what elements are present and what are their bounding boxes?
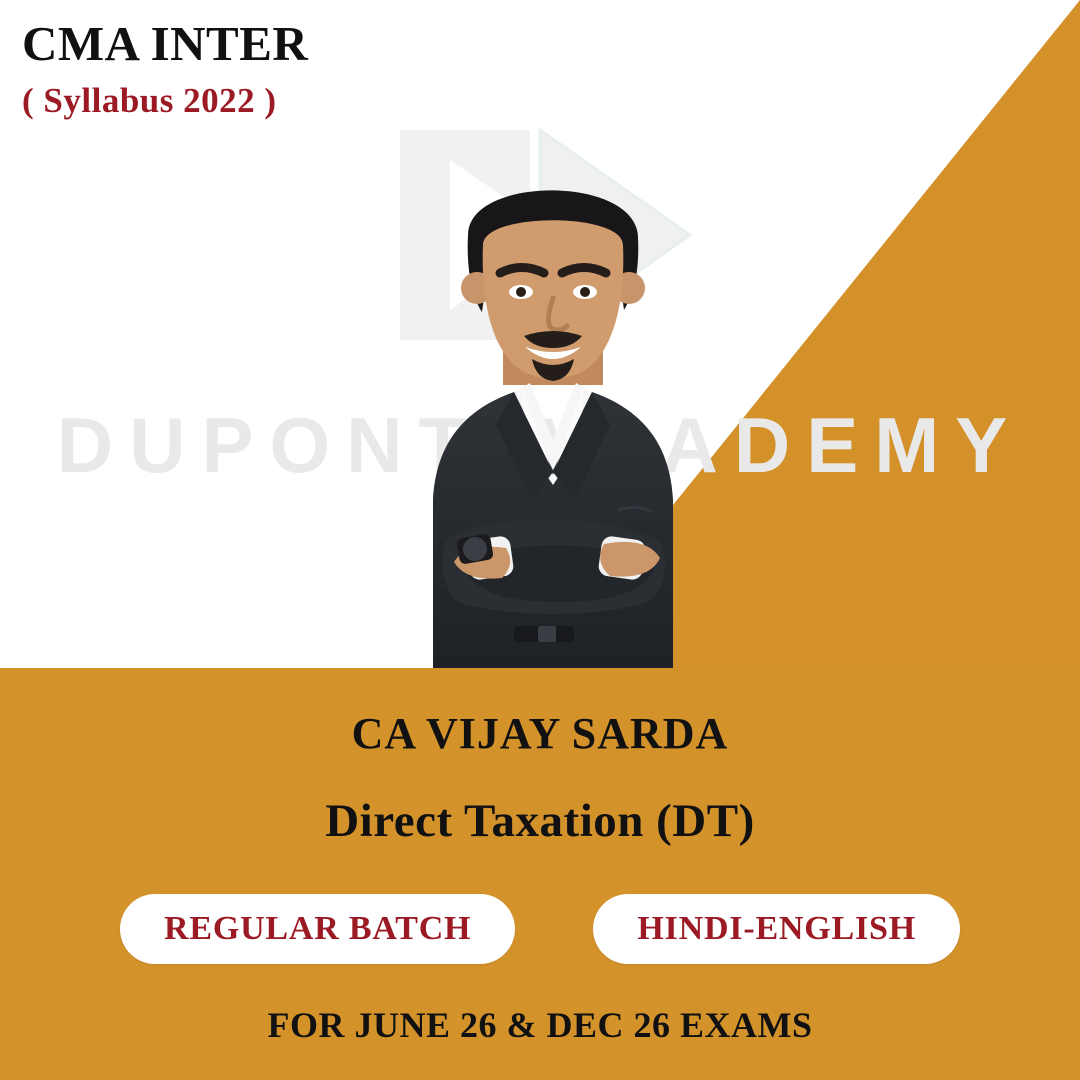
faculty-name: CA VIJAY SARDA (0, 668, 1080, 759)
badge-batch-type[interactable]: REGULAR BATCH (120, 894, 515, 964)
badge-row: REGULAR BATCH HINDI-ENGLISH (0, 848, 1080, 964)
promo-poster: DUPONT ACADEMY CMA INTER ( Syllabus 2022… (0, 0, 1080, 1080)
syllabus-label: ( Syllabus 2022 ) (22, 81, 308, 121)
exam-attempt-text: FOR JUNE 26 & DEC 26 EXAMS (0, 964, 1080, 1046)
details-panel: CA VIJAY SARDA Direct Taxation (DT) REGU… (0, 668, 1080, 1080)
badge-language[interactable]: HINDI-ENGLISH (593, 894, 960, 964)
subject-title: Direct Taxation (DT) (0, 759, 1080, 848)
header-block: CMA INTER ( Syllabus 2022 ) (22, 18, 308, 121)
faculty-photo (318, 140, 788, 680)
course-title: CMA INTER (22, 18, 308, 69)
